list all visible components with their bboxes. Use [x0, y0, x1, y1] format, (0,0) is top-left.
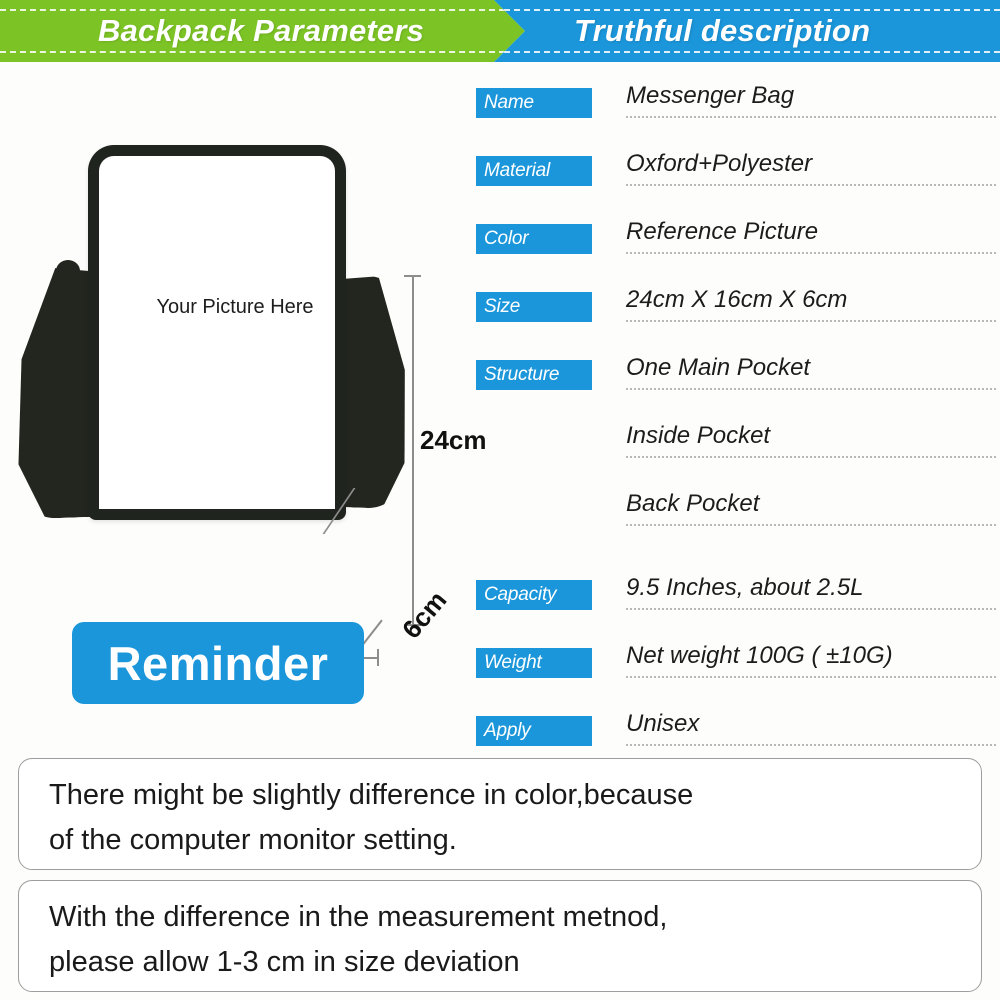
spec-row: StructureOne Main Pocket: [476, 358, 996, 398]
header-band-green: Backpack Parameters: [0, 0, 525, 62]
note-line: There might be slightly difference in co…: [49, 773, 951, 818]
note-box-size-deviation: With the difference in the measurement m…: [18, 880, 982, 992]
spec-value: 24cm X 16cm X 6cm: [626, 286, 996, 322]
reminder-badge: Reminder: [72, 622, 364, 704]
spec-label-apply: Apply: [476, 716, 592, 746]
header-left-title: Backpack Parameters: [98, 13, 424, 49]
spec-value: Back Pocket: [626, 490, 996, 526]
dimension-label-depth: 6cm: [396, 585, 453, 645]
stitch-line-top-green: [0, 9, 525, 11]
spec-value: Messenger Bag: [626, 82, 996, 118]
strap-buckle-icon: [56, 260, 80, 282]
spec-value: Unisex: [626, 710, 996, 746]
bag-illustration: Your Picture Here 24cm 16cm 6cm: [0, 120, 470, 570]
spec-row: ApplyUnisex: [476, 714, 996, 754]
spec-value: One Main Pocket: [626, 354, 996, 390]
note-line: With the difference in the measurement m…: [49, 895, 951, 940]
spec-row: WeightNet weight 100G ( ±10G): [476, 646, 996, 686]
spec-value: 9.5 Inches, about 2.5L: [626, 574, 996, 610]
spec-label-weight: Weight: [476, 648, 592, 678]
spec-row: Size24cm X 16cm X 6cm: [476, 290, 996, 330]
note-line: please allow 1-3 cm in size deviation: [49, 940, 951, 985]
header-banner: Backpack Parameters Truthful description: [0, 0, 1000, 62]
dimension-cap-height-top: [404, 275, 421, 277]
dimension-line-height: [412, 275, 414, 625]
header-band-blue: Truthful description: [494, 0, 1000, 62]
stitch-line-top-blue: [494, 9, 1000, 11]
note-line: of the computer monitor setting.: [49, 818, 951, 863]
stitch-line-bottom-green: [0, 51, 525, 53]
spec-label-structure: Structure: [476, 360, 592, 390]
spec-label-material: Material: [476, 156, 592, 186]
spec-row: MaterialOxford+Polyester: [476, 154, 996, 194]
spec-row: Back Pocket: [476, 494, 996, 534]
bag-caption-label: Your Picture Here: [0, 296, 470, 319]
spec-value: Net weight 100G ( ±10G): [626, 642, 996, 678]
spec-label-name: Name: [476, 88, 592, 118]
spec-value: Reference Picture: [626, 218, 996, 254]
header-right-title: Truthful description: [574, 13, 870, 49]
reminder-badge-label: Reminder: [108, 636, 329, 691]
spec-row: Inside Pocket: [476, 426, 996, 466]
dimension-cap-width-right: [377, 649, 379, 666]
spec-row: NameMessenger Bag: [476, 86, 996, 126]
spec-row: ColorReference Picture: [476, 222, 996, 262]
spec-label-color: Color: [476, 224, 592, 254]
spec-value: Inside Pocket: [626, 422, 996, 458]
spec-label-capacity: Capacity: [476, 580, 592, 610]
stitch-line-bottom-blue: [494, 51, 1000, 53]
spec-value: Oxford+Polyester: [626, 150, 996, 186]
bag-body-panel: [88, 145, 346, 520]
spec-label-size: Size: [476, 292, 592, 322]
note-box-color-difference: There might be slightly difference in co…: [18, 758, 982, 870]
spec-row: Capacity9.5 Inches, about 2.5L: [476, 578, 996, 618]
